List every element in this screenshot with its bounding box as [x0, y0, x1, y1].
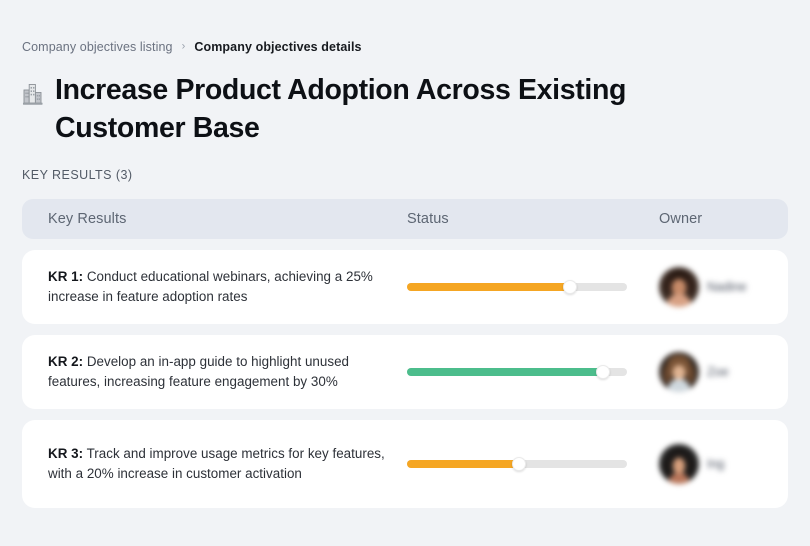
progress-slider[interactable]	[407, 460, 627, 468]
column-header-status: Status	[407, 211, 659, 227]
avatar[interactable]	[659, 444, 699, 484]
column-header-owner: Owner	[659, 211, 784, 227]
owner-cell: Nadine	[659, 267, 784, 307]
status-cell	[407, 460, 659, 468]
objective-details-page: Company objectives listing › Company obj…	[0, 0, 810, 546]
owner-name: Nadine	[707, 280, 747, 294]
column-header-key-results: Key Results	[22, 211, 407, 227]
progress-slider-fill	[407, 460, 519, 468]
key-result-label: KR 1:	[48, 269, 83, 284]
breadcrumb: Company objectives listing › Company obj…	[22, 0, 788, 55]
status-cell	[407, 283, 659, 291]
status-cell	[407, 368, 659, 376]
owner-cell: Ing	[659, 444, 784, 484]
page-title-row: Increase Product Adoption Across Existin…	[22, 71, 788, 147]
page-title: Increase Product Adoption Across Existin…	[55, 71, 748, 147]
avatar[interactable]	[659, 267, 699, 307]
key-results-table: Key Results Status Owner KR 1: Conduct e…	[22, 199, 788, 508]
chevron-right-icon: ›	[182, 41, 186, 53]
progress-slider-thumb[interactable]	[512, 457, 526, 471]
key-results-section-label: KEY RESULTS (3)	[22, 168, 788, 182]
key-result-text: Conduct educational webinars, achieving …	[48, 269, 373, 304]
breadcrumb-current-details: Company objectives details	[194, 39, 361, 55]
progress-slider[interactable]	[407, 283, 627, 291]
progress-slider-fill	[407, 368, 603, 376]
progress-slider[interactable]	[407, 368, 627, 376]
key-result-text: Develop an in-app guide to highlight unu…	[48, 354, 349, 389]
progress-slider-fill	[407, 283, 570, 291]
owner-name: Ing	[707, 457, 724, 471]
key-result-description: KR 1: Conduct educational webinars, achi…	[22, 267, 407, 306]
table-row[interactable]: KR 2: Develop an in-app guide to highlig…	[22, 335, 788, 409]
key-result-label: KR 2:	[48, 354, 83, 369]
key-result-description: KR 3: Track and improve usage metrics fo…	[22, 444, 407, 483]
key-result-description: KR 2: Develop an in-app guide to highlig…	[22, 352, 407, 391]
table-header-row: Key Results Status Owner	[22, 199, 788, 239]
owner-name: Zoe	[707, 365, 729, 379]
progress-slider-thumb[interactable]	[596, 365, 610, 379]
breadcrumb-link-listing[interactable]: Company objectives listing	[22, 39, 173, 55]
table-row[interactable]: KR 1: Conduct educational webinars, achi…	[22, 250, 788, 324]
avatar[interactable]	[659, 352, 699, 392]
progress-slider-thumb[interactable]	[563, 280, 577, 294]
key-result-text: Track and improve usage metrics for key …	[48, 446, 385, 481]
owner-cell: Zoe	[659, 352, 784, 392]
table-row[interactable]: KR 3: Track and improve usage metrics fo…	[22, 420, 788, 508]
key-result-label: KR 3:	[48, 446, 83, 461]
cityscape-buildings-icon	[22, 80, 44, 108]
table-body: KR 1: Conduct educational webinars, achi…	[22, 250, 788, 508]
